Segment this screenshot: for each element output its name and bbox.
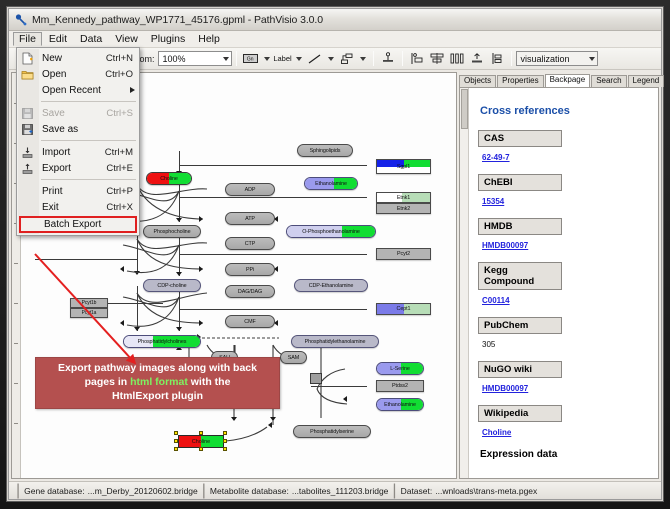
xref-pubchem: PubChem 305 xyxy=(478,317,650,352)
gene-connector-etnk xyxy=(179,197,367,198)
callout-line-2: pages in html format with the xyxy=(42,376,273,390)
zoom-combobox[interactable]: 100% xyxy=(158,51,232,66)
node-cept1[interactable]: Cept1 xyxy=(376,303,431,315)
statusbar-divider: | xyxy=(202,482,206,500)
menu-item-label: Exit xyxy=(42,202,106,213)
resize-handle-n[interactable] xyxy=(199,431,203,435)
chevron-down-icon[interactable] xyxy=(328,57,334,61)
menu-item-label: Import xyxy=(42,147,105,158)
xref-value-link[interactable]: Choline xyxy=(482,428,511,437)
node-ethanolamine-top[interactable]: Ethanolamine xyxy=(304,177,358,190)
save-as-icon xyxy=(21,123,34,136)
resize-handle-w[interactable] xyxy=(174,439,178,443)
anchor-button[interactable] xyxy=(379,50,397,67)
backpage-scrollbar[interactable] xyxy=(460,88,469,478)
metabolite-database-label: Metabolite database: xyxy=(210,486,289,496)
xref-db-label: Kegg Compound xyxy=(478,262,562,290)
node-cdp-choline[interactable]: CDP-choline xyxy=(143,279,201,292)
arrowhead-left xyxy=(343,396,347,402)
node-label: CDP-Ethanolamine xyxy=(309,283,354,289)
pathvisio-window: Mm_Kennedy_pathway_WP1771_45176.gpml - P… xyxy=(8,8,662,500)
tab-search[interactable]: Search xyxy=(591,75,626,87)
menu-separator xyxy=(41,140,136,141)
xref-value-link[interactable]: 15354 xyxy=(482,197,504,206)
node-label: Phosphatidylserine xyxy=(310,429,354,435)
menu-item-label: Open Recent xyxy=(42,85,130,96)
dataset-value: ...wnloads\trans-meta.pgex xyxy=(435,486,537,496)
callout-line-2-pre: pages in xyxy=(85,376,131,388)
node-label: SAM xyxy=(288,355,299,361)
resize-handle-e[interactable] xyxy=(223,439,227,443)
gene-connector-cept1 xyxy=(179,309,367,310)
xref-db-label: NuGO wiki xyxy=(478,361,562,378)
visualization-combobox[interactable]: visualization xyxy=(516,51,598,66)
chevron-right-icon xyxy=(130,87,135,93)
side-panel-tabstrip[interactable]: Objects Properties Backpage Search Legen… xyxy=(459,72,659,88)
menu-help[interactable]: Help xyxy=(192,32,226,46)
menu-item-accelerator: Ctrl+M xyxy=(105,147,139,158)
menu-item-open-recent[interactable]: Open Recent xyxy=(17,82,139,98)
xref-value-link[interactable]: 62-49-7 xyxy=(482,153,510,162)
xref-kegg-compound: Kegg Compound C00114 xyxy=(478,262,650,308)
group-button[interactable] xyxy=(468,50,486,67)
node-sam[interactable]: SAM xyxy=(280,351,307,364)
scrollbar-thumb[interactable] xyxy=(461,89,468,129)
distribute-horizontal-button[interactable] xyxy=(448,50,466,67)
node-label: Choline xyxy=(192,439,210,445)
menu-item-open[interactable]: Open Ctrl+O xyxy=(17,66,139,82)
node-label: Phosphocholine xyxy=(154,229,191,235)
xref-db-label: ChEBI xyxy=(478,174,562,191)
node-label: Etnk2 xyxy=(397,206,410,212)
interaction-dropdown-button[interactable] xyxy=(337,50,369,67)
window-title: Mm_Kennedy_pathway_WP1771_45176.gpml - P… xyxy=(32,14,323,26)
node-label: CDP-choline xyxy=(157,283,186,289)
menu-item-accelerator: Ctrl+S xyxy=(106,108,139,119)
node-ptdss2[interactable]: Ptdss2 xyxy=(376,380,424,392)
menu-item-accelerator: Ctrl+E xyxy=(106,163,139,174)
node-label: Sphingolipids xyxy=(310,148,341,154)
node-label: Pcyt2 xyxy=(397,251,410,257)
node-label: CMF xyxy=(244,319,255,325)
xref-value-link[interactable]: HMDB00097 xyxy=(482,384,528,393)
menu-item-exit[interactable]: Exit Ctrl+X xyxy=(17,199,139,215)
line-icon[interactable] xyxy=(306,50,324,67)
export-icon xyxy=(21,162,34,175)
node-atp[interactable]: ATP xyxy=(225,212,275,225)
gene-database-value: ...m_Derby_20120602.bridge xyxy=(88,486,198,496)
menu-item-export[interactable]: Export Ctrl+E xyxy=(17,160,139,176)
menu-item-label: Open xyxy=(42,69,105,80)
menu-item-import[interactable]: Import Ctrl+M xyxy=(17,144,139,160)
node-label: Phosphatidylcholines xyxy=(138,339,187,345)
save-disk-icon xyxy=(21,107,34,120)
gene-connector-pcyt2 xyxy=(179,254,367,255)
statusbar-divider: | xyxy=(392,482,396,500)
node-pcyt2[interactable]: Pcyt2 xyxy=(376,248,431,260)
node-ppi[interactable]: PPi xyxy=(225,263,275,276)
gene-connector-sgpl1 xyxy=(179,165,367,166)
node-phosphatidylserine[interactable]: Phosphatidylserine xyxy=(293,425,371,438)
chevron-down-icon[interactable] xyxy=(296,57,302,61)
chevron-down-icon xyxy=(589,57,595,61)
xref-db-label: HMDB xyxy=(478,218,562,235)
toolbar-separator xyxy=(373,51,374,66)
menu-item-label: Export xyxy=(42,163,106,174)
tab-objects[interactable]: Objects xyxy=(459,75,496,87)
node-choline-top[interactable]: Choline xyxy=(146,172,192,185)
node-phosphatidylethanolamine[interactable]: Phosphatidylethanolamine xyxy=(291,335,379,348)
xref-chebi: ChEBI 15354 xyxy=(478,174,650,209)
node-cmf[interactable]: CMF xyxy=(225,315,275,328)
label-dropdown-button[interactable]: Label xyxy=(273,50,305,67)
xref-wikipedia: Wikipedia Choline xyxy=(478,405,650,440)
node-adp[interactable]: ADP xyxy=(225,183,275,196)
interaction-anchor-box[interactable] xyxy=(310,373,322,384)
node-phosphocholine[interactable]: Phosphocholine xyxy=(143,225,201,238)
menu-item-label: Save as xyxy=(42,124,133,135)
gene-connector-pcyt1 xyxy=(103,303,163,304)
chevron-down-icon[interactable] xyxy=(264,57,270,61)
callout-highlight: html format xyxy=(130,376,188,388)
chevron-down-icon[interactable] xyxy=(360,57,366,61)
backpage-panel: Cross references CAS 62-49-7 ChEBI 15354… xyxy=(459,88,659,479)
menu-plugins[interactable]: Plugins xyxy=(145,32,191,46)
import-icon xyxy=(21,146,34,159)
xref-nugo-wiki: NuGO wiki HMDB00097 xyxy=(478,361,650,396)
node-label: L-Serine xyxy=(390,366,410,372)
menu-view[interactable]: View xyxy=(109,32,144,46)
screenshot-root: Mm_Kennedy_pathway_WP1771_45176.gpml - P… xyxy=(0,0,670,509)
node-label: Pcyt1b xyxy=(82,300,97,306)
menu-separator xyxy=(41,101,136,102)
tab-backpage[interactable]: Backpage xyxy=(545,74,591,87)
datanode-dropdown-button[interactable]: Gn xyxy=(241,50,273,67)
xref-cas: CAS 62-49-7 xyxy=(478,130,650,165)
arrowhead-left xyxy=(268,422,272,428)
interaction-icon[interactable] xyxy=(338,50,356,67)
xref-db-label: Wikipedia xyxy=(478,405,562,422)
zoom-value: 100% xyxy=(163,54,186,64)
toolbar-separator xyxy=(511,51,512,66)
node-label: Ethanolamine xyxy=(384,402,416,408)
node-label: PPi xyxy=(246,267,254,273)
resize-handle-s[interactable] xyxy=(199,447,203,451)
tab-properties[interactable]: Properties xyxy=(497,75,543,87)
expression-data-heading: Expression data xyxy=(480,449,650,460)
node-label: Ptdss2 xyxy=(392,383,408,389)
annotation-callout: Export pathway images along with back pa… xyxy=(35,357,280,409)
align-left-button[interactable] xyxy=(408,50,426,67)
svg-text:Gn: Gn xyxy=(247,57,254,63)
dataset-label: Dataset: xyxy=(401,486,433,496)
arrowhead-right xyxy=(199,320,203,326)
node-pcyt1b[interactable]: Pcyt1b xyxy=(70,298,108,308)
arrowhead-down xyxy=(270,417,276,421)
pathvisio-icon xyxy=(14,13,27,26)
new-file-icon xyxy=(21,52,34,65)
node-label: O-Phosphoethanolamine xyxy=(302,229,360,235)
node-sphingolipids[interactable]: Sphingolipids xyxy=(297,144,353,157)
menu-item-accelerator: Ctrl+N xyxy=(106,53,139,64)
backpage-content: Cross references CAS 62-49-7 ChEBI 15354… xyxy=(470,88,658,478)
side-panel: Objects Properties Backpage Search Legen… xyxy=(459,72,659,479)
node-label: Etnk1 xyxy=(397,195,410,201)
arrowhead-right xyxy=(199,216,203,222)
node-label: ADP xyxy=(245,187,256,193)
label-icon[interactable]: Label xyxy=(274,50,292,67)
menu-data[interactable]: Data xyxy=(74,32,108,46)
window-titlebar: Mm_Kennedy_pathway_WP1771_45176.gpml - P… xyxy=(9,9,661,31)
node-ctp[interactable]: CTP xyxy=(225,237,275,250)
statusbar: | Gene database: ...m_Derby_20120602.bri… xyxy=(9,481,661,499)
menu-item-save: Save Ctrl+S xyxy=(17,105,139,121)
resize-handle-se[interactable] xyxy=(223,447,227,451)
menu-edit[interactable]: Edit xyxy=(43,32,73,46)
resize-handle-ne[interactable] xyxy=(223,431,227,435)
menu-item-label: New xyxy=(42,53,106,64)
xref-hmdb: HMDB HMDB00097 xyxy=(478,218,650,253)
node-label: CTP xyxy=(245,241,255,247)
node-label: Cept1 xyxy=(397,306,411,312)
menu-separator xyxy=(41,179,136,180)
menu-item-label: Save xyxy=(42,108,106,119)
node-label: Phosphatidylethanolamine xyxy=(305,339,366,345)
statusbar-divider: | xyxy=(16,482,20,500)
gene-database-label: Gene database: xyxy=(24,486,85,496)
callout-line-1: Export pathway images along with back xyxy=(42,362,273,376)
xref-db-label: PubChem xyxy=(478,317,562,334)
resize-handle-nw[interactable] xyxy=(174,431,178,435)
node-etnk2[interactable]: Etnk2 xyxy=(376,203,431,214)
xref-value-link[interactable]: C00114 xyxy=(482,296,510,305)
menu-file[interactable]: File xyxy=(13,32,42,46)
menubar[interactable]: File Edit Data View Plugins Help xyxy=(9,31,661,48)
xref-db-label: CAS xyxy=(478,130,562,147)
menu-item-accelerator: Ctrl+X xyxy=(106,202,139,213)
node-dag[interactable]: DAG/DAG xyxy=(225,285,275,298)
menu-item-new[interactable]: New Ctrl+N xyxy=(17,50,139,66)
xref-value-link[interactable]: HMDB00097 xyxy=(482,241,528,250)
line-dropdown-button[interactable] xyxy=(305,50,337,67)
arrowhead-down xyxy=(231,417,237,421)
node-label: Ethanolamine xyxy=(315,181,347,187)
node-label: Pcyt1a xyxy=(82,310,97,316)
visualization-value: visualization xyxy=(521,54,570,64)
callout-line-2-post: with the xyxy=(188,376,231,388)
arrowhead-left xyxy=(120,320,124,326)
label-text: Label xyxy=(271,54,293,63)
chevron-down-icon xyxy=(223,57,229,61)
node-label: Sgpl1 xyxy=(397,164,410,170)
node-o-phosphoethanolamine[interactable]: O-Phosphoethanolamine xyxy=(286,225,376,238)
node-pcyt1a[interactable]: Pcyt1a xyxy=(70,308,108,318)
node-label: Choline xyxy=(160,176,178,182)
stack-button[interactable] xyxy=(488,50,506,67)
menu-item-print[interactable]: Print Ctrl+P xyxy=(17,183,139,199)
menu-item-label: Batch Export xyxy=(44,219,129,230)
metabolite-database-value: ...tabolites_111203.bridge xyxy=(292,486,389,496)
toolbar-separator xyxy=(236,51,237,66)
menu-item-accelerator: Ctrl+O xyxy=(105,69,139,80)
node-l-serine[interactable]: L-Serine xyxy=(376,362,424,375)
menu-item-label: Print xyxy=(42,186,106,197)
xref-value-text: 305 xyxy=(482,340,495,349)
cross-references-heading: Cross references xyxy=(480,105,650,117)
node-sgpl1[interactable]: Sgpl1 xyxy=(376,159,431,174)
toolbar-separator xyxy=(402,51,403,66)
node-cdp-ethanolamine[interactable]: CDP-Ethanolamine xyxy=(294,279,368,292)
tab-legend[interactable]: Legend xyxy=(628,75,665,87)
file-menu-dropdown[interactable]: New Ctrl+N Open Ctrl+O Open Recent xyxy=(16,47,140,236)
resize-handle-sw[interactable] xyxy=(174,447,178,451)
menu-item-batch-export[interactable]: Batch Export xyxy=(19,216,137,233)
node-phosphatidylcholines[interactable]: Phosphatidylcholines xyxy=(123,335,201,348)
menu-item-accelerator: Ctrl+P xyxy=(106,186,139,197)
menu-item-save-as[interactable]: Save as xyxy=(17,121,139,137)
geneproduct-icon[interactable]: Gn xyxy=(242,50,260,67)
node-label: DAG/DAG xyxy=(238,289,262,295)
node-ethanolamine-bottom[interactable]: Ethanolamine xyxy=(376,398,424,411)
node-etnk1[interactable]: Etnk1 xyxy=(376,192,431,203)
gene-connector-ptdss2 xyxy=(311,386,367,387)
node-label: ATP xyxy=(245,216,255,222)
align-center-button[interactable] xyxy=(428,50,446,67)
selected-node-choline-bottom[interactable]: Choline xyxy=(178,435,224,448)
open-folder-icon xyxy=(21,68,34,81)
arrowhead-left xyxy=(120,266,124,272)
arrowhead-right xyxy=(199,266,203,272)
gene-connector-phosphocholine-left xyxy=(35,259,137,260)
callout-line-3: HtmlExport plugin xyxy=(42,390,273,404)
